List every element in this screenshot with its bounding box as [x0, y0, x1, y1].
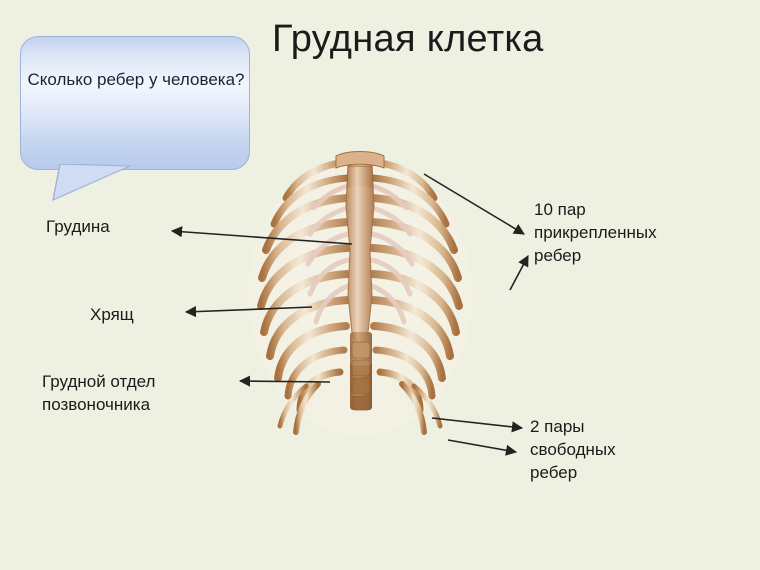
- slide-canvas: Грудная клетка Сколько ребер у человека?: [0, 0, 760, 570]
- speech-bubble-tail-icon: [40, 164, 160, 204]
- callout-label-thoracic-spine: Грудной отдел позвоночника: [42, 370, 155, 416]
- question-bubble-text: Сколько ребер у человека?: [21, 67, 251, 92]
- callout-label-free-ribs: 2 пары свободных ребер: [530, 415, 616, 484]
- rib-cage-illustration: [244, 146, 476, 450]
- question-speech-bubble: Сколько ребер у человека?: [20, 36, 250, 170]
- callout-label-cartilage: Хрящ: [90, 303, 134, 326]
- callout-label-sternum: Грудина: [46, 215, 110, 238]
- callout-label-attached-ribs: 10 пар прикрепленных ребер: [534, 198, 657, 267]
- page-title: Грудная клетка: [272, 16, 544, 62]
